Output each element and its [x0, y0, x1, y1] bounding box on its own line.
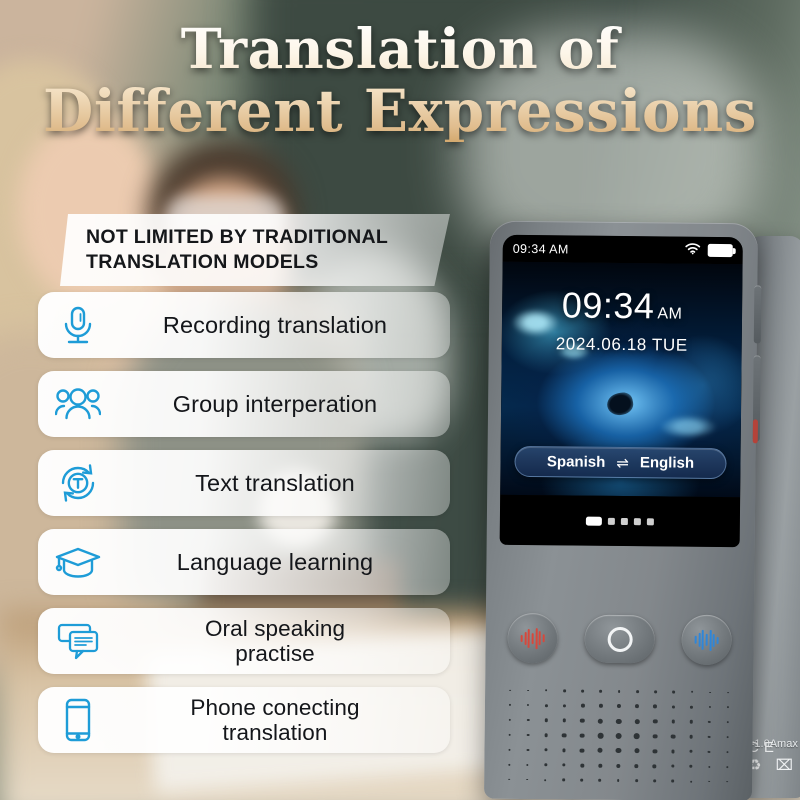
- speaker-hole: [581, 704, 585, 708]
- feature-label-line-1: Phone conecting: [190, 695, 359, 720]
- speaker-hole: [509, 689, 511, 691]
- speaker-hole: [563, 690, 565, 692]
- speaker-hole: [598, 733, 604, 739]
- subtitle-banner: NOT LIMITED BY TRADITIONAL TRANSLATION M…: [60, 214, 450, 286]
- home-date: 2024.06.18 TUE: [502, 334, 742, 357]
- speaker-hole: [562, 719, 566, 723]
- group-people-icon: [38, 384, 118, 424]
- record-source-button[interactable]: [507, 613, 558, 664]
- language-pair-selector[interactable]: Spanish ⇌ English: [514, 446, 726, 479]
- device-button-row: [485, 613, 754, 674]
- speaker-hole: [526, 749, 529, 752]
- speaker-hole: [726, 781, 728, 783]
- speaker-hole: [599, 704, 603, 708]
- speaker-hole: [600, 690, 603, 693]
- speaker-hole: [617, 704, 621, 708]
- battery-full-icon: [708, 244, 733, 257]
- speaker-hole: [708, 736, 711, 739]
- speaker-hole: [634, 749, 639, 754]
- speaker-hole: [671, 734, 675, 738]
- chat-bubbles-icon: [38, 621, 118, 661]
- side-button-accent: [753, 419, 758, 443]
- language-from: Spanish: [547, 453, 606, 471]
- speaker-hole: [708, 781, 710, 783]
- speaker-hole: [580, 763, 584, 767]
- speaker-hole: [599, 779, 602, 782]
- feature-label-line-2: translation: [223, 720, 328, 745]
- language-to: English: [640, 454, 694, 472]
- home-clock: 09:34AM: [502, 286, 742, 335]
- poster-title: Translation of Different Expressions: [0, 18, 800, 142]
- feature-list: Recording translation Group interperatio…: [38, 292, 450, 766]
- speaker-hole: [598, 748, 603, 753]
- speaker-hole: [727, 721, 729, 723]
- feature-label: Group interperation: [118, 392, 450, 417]
- speaker-hole: [526, 734, 529, 737]
- page-dot[interactable]: [621, 517, 628, 524]
- speaker-hole: [508, 778, 510, 780]
- speaker-hole: [634, 764, 638, 768]
- page-dot[interactable]: [647, 518, 654, 525]
- speaker-hole: [562, 763, 565, 766]
- translator-device: 09:34 AM 09:34AM 2024.0: [484, 221, 758, 800]
- speaker-hole: [689, 750, 692, 753]
- speaker-hole: [618, 690, 621, 693]
- speaker-hole: [653, 719, 657, 723]
- speaker-hole: [653, 749, 657, 753]
- speaker-hole: [616, 764, 620, 768]
- swap-languages-icon[interactable]: ⇌: [616, 453, 629, 471]
- feature-label: Recording translation: [118, 313, 450, 338]
- speaker-hole: [527, 704, 529, 706]
- speaker-hole: [598, 764, 602, 768]
- speaker-grille: [500, 683, 737, 789]
- feature-item-phone-conecting-translation[interactable]: Phone conecting translation: [38, 687, 450, 753]
- speaker-hole: [526, 779, 528, 781]
- smartphone-icon: [38, 698, 118, 742]
- speaker-hole: [509, 704, 511, 706]
- speaker-hole: [671, 765, 674, 768]
- feature-item-oral-speaking-practise[interactable]: Oral speaking practise: [38, 608, 450, 674]
- speaker-hole: [654, 690, 657, 693]
- speaker-hole: [562, 733, 566, 737]
- speaker-hole: [545, 779, 547, 781]
- speaker-hole: [672, 691, 674, 693]
- page-indicator[interactable]: [500, 495, 741, 548]
- speaker-hole: [527, 690, 529, 692]
- speaker-hole: [563, 779, 565, 781]
- speaker-hole: [545, 719, 548, 722]
- feature-label-line-2: practise: [235, 641, 315, 666]
- feature-item-text-translation[interactable]: Text translation: [38, 450, 450, 516]
- speaker-hole: [509, 749, 511, 751]
- speaker-hole: [691, 691, 693, 693]
- waveform-icon: [694, 629, 719, 651]
- feature-label: Language learning: [118, 550, 450, 575]
- speaker-hole: [544, 748, 547, 751]
- status-bar-time: 09:34 AM: [513, 241, 569, 256]
- speaker-hole: [653, 780, 656, 783]
- graduation-cap-icon: [38, 543, 118, 581]
- speaker-hole: [690, 765, 693, 768]
- speaker-hole: [527, 719, 530, 722]
- subtitle-line-2: TRANSLATION MODELS: [86, 250, 388, 275]
- speaker-hole: [580, 733, 585, 738]
- speaker-hole: [581, 779, 584, 782]
- page-dot[interactable]: [608, 517, 615, 524]
- speaker-hole: [580, 718, 584, 722]
- speaker-hole: [634, 733, 640, 739]
- speaker-hole: [616, 733, 622, 739]
- speaker-hole: [690, 720, 693, 723]
- speaker-hole: [726, 751, 728, 753]
- feature-label: Phone conecting translation: [118, 695, 450, 745]
- side-button-top[interactable]: [754, 285, 762, 343]
- feature-label-line-1: Oral speaking: [205, 616, 345, 641]
- page-dot[interactable]: [634, 518, 641, 525]
- speaker-hole: [689, 735, 693, 739]
- waveform-icon: [520, 627, 545, 649]
- speaker-hole: [635, 779, 638, 782]
- speaker-hole: [652, 734, 657, 739]
- speaker-hole: [672, 705, 675, 708]
- speaker-hole: [726, 736, 728, 738]
- text-translate-icon: [38, 462, 118, 504]
- speaker-hole: [708, 766, 710, 768]
- title-line-2: Different Expressions: [0, 80, 800, 142]
- speaker-hole: [727, 706, 729, 708]
- speaker-hole: [544, 764, 547, 767]
- speaker-hole: [709, 706, 711, 708]
- speaker-hole: [616, 748, 621, 753]
- page-dot-active[interactable]: [586, 516, 602, 525]
- speaker-hole: [580, 748, 584, 752]
- title-line-1: Translation of: [181, 16, 620, 81]
- speaker-hole: [726, 766, 728, 768]
- speaker-hole: [727, 692, 729, 694]
- speaker-hole: [653, 705, 657, 709]
- speaker-hole: [598, 718, 603, 723]
- home-clock-ampm: AM: [657, 305, 682, 322]
- speaker-hole: [709, 691, 711, 693]
- speaker-hole: [581, 690, 584, 693]
- feature-label: Oral speaking practise: [118, 616, 450, 666]
- microphone-icon: [38, 304, 118, 346]
- speaker-hole: [509, 719, 511, 721]
- speaker-hole: [690, 706, 693, 709]
- circle-ring-icon: [607, 626, 632, 651]
- speaker-hole: [653, 764, 657, 768]
- speaker-hole: [545, 704, 548, 707]
- feature-label: Text translation: [118, 471, 450, 496]
- home-button[interactable]: [584, 615, 654, 664]
- speaker-hole: [671, 749, 675, 753]
- subtitle-line-1: NOT LIMITED BY TRADITIONAL: [86, 225, 388, 250]
- feature-item-recording-translation[interactable]: Recording translation: [38, 292, 450, 358]
- speaker-hole: [636, 690, 639, 693]
- feature-item-language-learning[interactable]: Language learning: [38, 529, 450, 595]
- speaker-hole: [671, 780, 673, 782]
- speaker-hole: [563, 704, 566, 707]
- device-home-screen[interactable]: 09:34AM 2024.06.18 TUE Spanish ⇌ English: [500, 262, 742, 498]
- speaker-hole: [690, 780, 692, 782]
- certification-symbols-icon: CE ♻ ⌧: [748, 739, 800, 774]
- feature-item-group-interperation[interactable]: Group interperation: [38, 371, 450, 437]
- speaker-hole: [635, 704, 639, 708]
- speaker-hole: [671, 720, 675, 724]
- speaker-hole: [544, 733, 548, 737]
- speaker-hole: [509, 764, 511, 766]
- record-target-button[interactable]: [681, 615, 732, 666]
- speaker-hole: [708, 750, 711, 753]
- speaker-hole: [617, 779, 620, 782]
- speaker-hole: [562, 748, 566, 752]
- status-bar: 09:34 AM: [503, 235, 743, 265]
- device-screen-bezel: 09:34 AM 09:34AM 2024.0: [500, 235, 743, 547]
- speaker-hole: [616, 719, 621, 724]
- speaker-hole: [708, 721, 711, 724]
- wifi-icon: [685, 241, 701, 259]
- speaker-hole: [526, 764, 528, 766]
- speaker-hole: [545, 690, 547, 692]
- speaker-hole: [634, 719, 639, 724]
- home-clock-time: 09:34: [562, 284, 655, 326]
- speaker-hole: [509, 734, 511, 736]
